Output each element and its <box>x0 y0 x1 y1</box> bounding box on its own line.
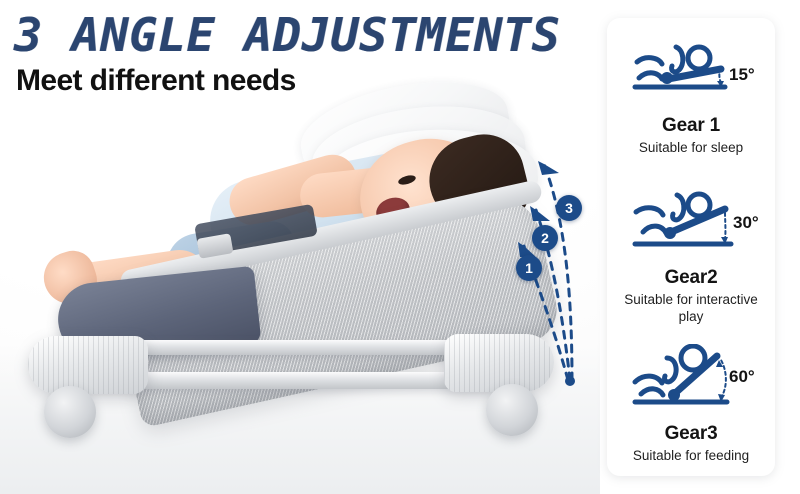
gear-list-card: 15° Gear 1 Suitable for sleep 30° <box>607 18 775 476</box>
gear-2-name: Gear2 <box>607 267 775 289</box>
title-block: 3 ANGLE ADJUSTMENTS Meet different needs <box>14 10 594 98</box>
page-subtitle: Meet different needs <box>16 64 594 98</box>
gear-2-angle-label: 30° <box>733 213 759 232</box>
gear-1-angle-label: 15° <box>729 65 755 84</box>
angle-arc-group: 1 2 3 <box>440 60 600 420</box>
gear-item-3[interactable]: 60° Gear3 Suitable for feeding <box>607 344 775 464</box>
angle-marker-3: 3 <box>556 195 582 221</box>
caster-wheel-left <box>44 386 96 438</box>
gear-1-name: Gear 1 <box>607 115 775 137</box>
gear-3-name: Gear3 <box>607 423 775 445</box>
gear-item-1[interactable]: 15° Gear 1 Suitable for sleep <box>607 36 775 156</box>
gear-3-angle-label: 60° <box>729 367 755 386</box>
angle-marker-2: 2 <box>532 225 558 251</box>
frame-bar-upper <box>96 340 488 355</box>
infographic-stage: 1 2 3 3 ANGLE ADJUSTMENTS Meet different… <box>0 0 800 494</box>
frame-endcap-left <box>28 336 148 394</box>
gear-item-2[interactable]: 30° Gear2 Suitable for interactive play <box>607 188 775 325</box>
gear-2-description: Suitable for interactive play <box>607 291 775 325</box>
gear-3-description: Suitable for feeding <box>607 447 775 464</box>
angle-arcs-svg <box>440 60 600 420</box>
gear-1-description: Suitable for sleep <box>607 139 775 156</box>
hero-panel: 1 2 3 3 ANGLE ADJUSTMENTS Meet different… <box>0 0 600 494</box>
recline-60-degree-icon: 60° <box>621 344 761 414</box>
recline-30-degree-icon: 30° <box>621 188 761 258</box>
endcap-ridges-left <box>28 336 148 394</box>
arc-pivot-point <box>565 376 575 386</box>
angle-marker-1: 1 <box>516 255 542 281</box>
arrowhead-2 <box>530 206 550 221</box>
recline-15-degree-icon: 15° <box>621 36 761 106</box>
arrowhead-3 <box>538 161 559 175</box>
page-title: 3 ANGLE ADJUSTMENTS <box>14 10 600 60</box>
